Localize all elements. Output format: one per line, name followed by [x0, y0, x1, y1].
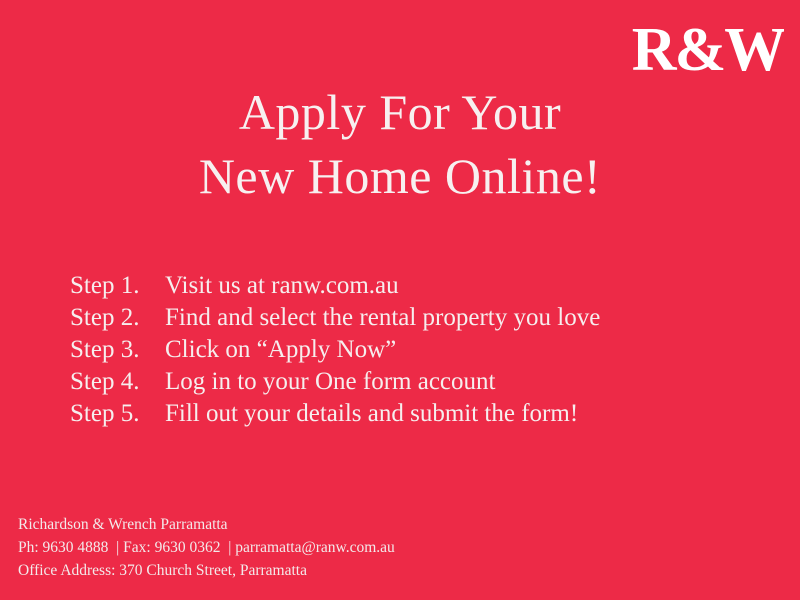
title-line-1: Apply For Your: [0, 80, 800, 144]
promotional-poster: R&W Apply For Your New Home Online! Step…: [0, 0, 800, 600]
office-address: Office Address: 370 Church Street, Parra…: [18, 559, 638, 582]
step-text: Fill out your details and submit the for…: [165, 398, 720, 430]
steps-list: Step 1. Visit us at ranw.com.au Step 2. …: [70, 270, 720, 430]
step-text: Find and select the rental property you …: [165, 302, 720, 334]
list-item: Step 5. Fill out your details and submit…: [70, 398, 720, 430]
list-item: Step 4. Log in to your One form account: [70, 366, 720, 398]
step-label: Step 2.: [70, 302, 165, 334]
ranw-logo-icon: R&W: [632, 18, 784, 84]
step-label: Step 4.: [70, 366, 165, 398]
contact-footer: Richardson & Wrench Parramatta Ph: 9630 …: [18, 513, 638, 582]
step-text: Log in to your One form account: [165, 366, 720, 398]
contact-details: Ph: 9630 4888 | Fax: 9630 0362 | parrama…: [18, 536, 638, 559]
step-label: Step 1.: [70, 270, 165, 302]
title-line-2: New Home Online!: [0, 144, 800, 208]
ranw-logo-text: R&W: [632, 18, 784, 84]
step-label: Step 5.: [70, 398, 165, 430]
list-item: Step 3. Click on “Apply Now”: [70, 334, 720, 366]
agency-name: Richardson & Wrench Parramatta: [18, 513, 638, 536]
page-title: Apply For Your New Home Online!: [0, 80, 800, 208]
step-text: Click on “Apply Now”: [165, 334, 720, 366]
list-item: Step 2. Find and select the rental prope…: [70, 302, 720, 334]
step-text: Visit us at ranw.com.au: [165, 270, 720, 302]
ranw-logo: R&W: [632, 18, 784, 84]
list-item: Step 1. Visit us at ranw.com.au: [70, 270, 720, 302]
step-label: Step 3.: [70, 334, 165, 366]
